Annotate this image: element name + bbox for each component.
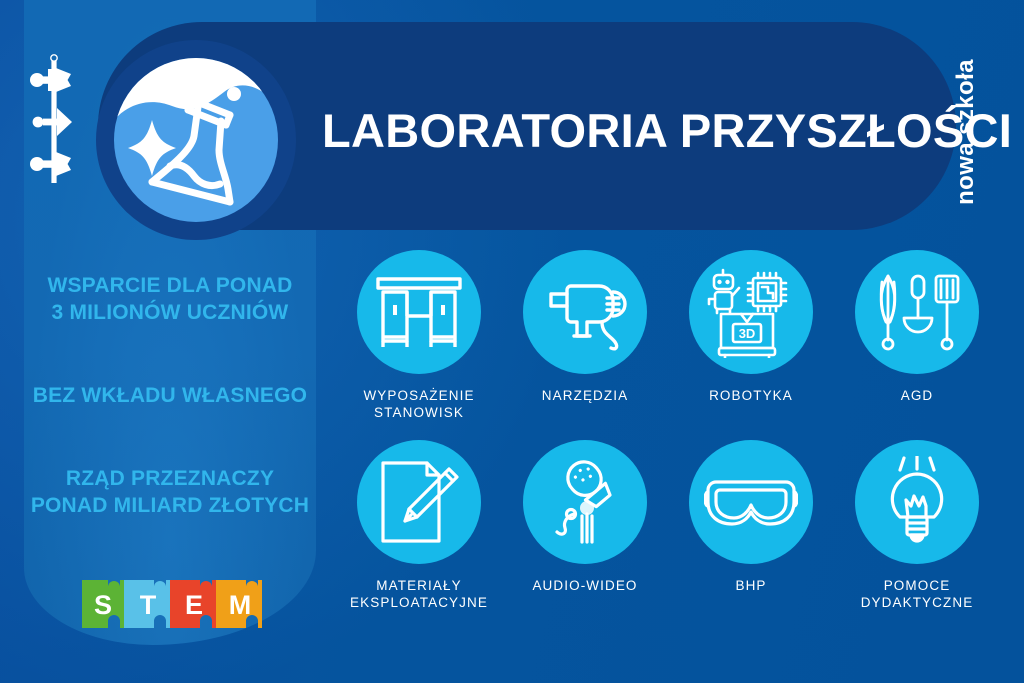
category-label: ROBOTYKA <box>668 387 834 404</box>
kitchen-icon <box>855 250 979 374</box>
benefit-line: 3 MILIONÓW UCZNIÓW <box>30 299 310 326</box>
flask-logo-icon <box>96 40 296 240</box>
category-grid: WYPOSAŻENIE STANOWISK NARZĘDZIA <box>336 250 1000 650</box>
category-label: AUDIO-WIDEO <box>502 577 668 594</box>
benefit-item: BEZ WKŁADU WŁASNEGO <box>30 382 310 409</box>
category-label: BHP <box>668 577 834 594</box>
category-item-teaching-aids[interactable]: POMOCE DYDAKTYCZNE <box>834 440 1000 611</box>
benefit-item: RZĄD PRZEZNACZY PONAD MILIARD ZŁOTYCH <box>30 465 310 519</box>
category-item-safety[interactable]: BHP <box>668 440 834 594</box>
category-item-audio-video[interactable]: AUDIO-WIDEO <box>502 440 668 594</box>
svg-text:3D: 3D <box>739 326 756 341</box>
logo-circle <box>114 58 278 222</box>
category-item-robotics[interactable]: 3D ROBOTYKA <box>668 250 834 404</box>
category-item-desk[interactable]: WYPOSAŻENIE STANOWISK <box>336 250 502 421</box>
benefit-item: WSPARCIE DLA PONAD 3 MILIONÓW UCZNIÓW <box>30 272 310 326</box>
goggles-icon <box>689 440 813 564</box>
benefit-line: PONAD MILIARD ZŁOTYCH <box>30 492 310 519</box>
svg-text:S: S <box>94 590 112 620</box>
desk-icon <box>357 250 481 374</box>
category-label: WYPOSAŻENIE STANOWISK <box>336 387 502 421</box>
benefit-line: BEZ WKŁADU WŁASNEGO <box>30 382 310 409</box>
vertical-brand-text: nowa szkoła <box>952 22 980 242</box>
benefits-list: WSPARCIE DLA PONAD 3 MILIONÓW UCZNIÓW BE… <box>30 272 310 519</box>
svg-text:E: E <box>185 590 203 620</box>
paper-pencil-icon <box>357 440 481 564</box>
svg-text:T: T <box>140 590 157 620</box>
svg-text:M: M <box>229 590 252 620</box>
benefit-line: RZĄD PRZEZNACZY <box>30 465 310 492</box>
category-label: POMOCE DYDAKTYCZNE <box>834 577 1000 611</box>
category-label: AGD <box>834 387 1000 404</box>
category-item-tools[interactable]: NARZĘDZIA <box>502 250 668 404</box>
category-label: NARZĘDZIA <box>502 387 668 404</box>
benefit-line: WSPARCIE DLA PONAD <box>30 272 310 299</box>
stem-logo: S T E M <box>78 578 264 632</box>
lightbulb-icon <box>855 440 979 564</box>
drill-icon <box>523 250 647 374</box>
category-item-materials[interactable]: MATERIAŁY EKSPLOATACYJNE <box>336 440 502 611</box>
robotics-icon: 3D <box>689 250 813 374</box>
page-title: LABORATORIA PRZYSZŁOŚCI <box>322 96 942 166</box>
nowa-szkola-logo <box>26 52 82 192</box>
category-label: MATERIAŁY EKSPLOATACYJNE <box>336 577 502 611</box>
infographic-root: LABORATORIA PRZYSZŁOŚCI <box>0 0 1024 683</box>
category-item-appliances[interactable]: AGD <box>834 250 1000 404</box>
microphone-icon <box>523 440 647 564</box>
